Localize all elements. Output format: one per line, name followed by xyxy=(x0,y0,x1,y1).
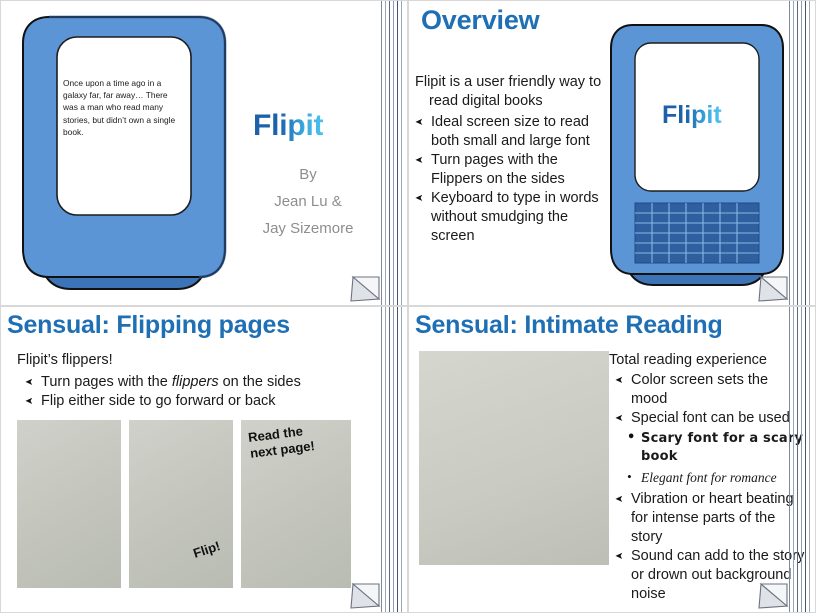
page-fold-corner xyxy=(757,580,791,610)
flipping-bullet-list: Turn pages with the flippers on the side… xyxy=(25,373,357,411)
page-fold-corner xyxy=(757,273,791,303)
photo-flip-action: Flip! xyxy=(129,420,233,588)
edge-stripes xyxy=(785,1,811,305)
byline: By Jean Lu & Jay Sizemore xyxy=(223,161,393,242)
stripe-background xyxy=(383,1,407,305)
slide-deck: Once upon a time ago in a galaxy far, fa… xyxy=(0,0,816,613)
slide-title-overview: Overview xyxy=(421,5,539,36)
stripe-background xyxy=(383,307,407,612)
bullet-item: Ideal screen size to read both small and… xyxy=(415,113,605,151)
flipit-device-illustration xyxy=(19,9,229,294)
bullet-item: Vibration or heart beating for intense p… xyxy=(615,490,807,547)
intimate-bullet-list: Color screen sets the mood Special font … xyxy=(615,371,807,428)
overview-lead: Flipit is a user friendly way to read di… xyxy=(415,73,605,111)
bullet-text-emphasis: flippers xyxy=(172,374,219,390)
sub-bullet-scary-font: Scary font for a scary book xyxy=(627,430,807,466)
bullet-item: Color screen sets the mood xyxy=(615,371,807,409)
slide-intimate-reading[interactable]: Sensual: Intimate Reading xyxy=(408,306,816,613)
byline-author-1: Jean Lu & xyxy=(223,188,393,215)
slide-title-intimate-reading: Sensual: Intimate Reading xyxy=(415,311,723,340)
intimate-sub-bullet-list: Scary font for a scary book Elegant font… xyxy=(627,430,807,487)
edge-stripes xyxy=(377,307,403,612)
photo-flipper-hold xyxy=(17,420,121,588)
bullet-item: Keyboard to type in words without smudgi… xyxy=(415,189,605,246)
flipping-body: Flipit’s flippers! Turn pages with the f… xyxy=(17,351,357,411)
flipit-device-illustration xyxy=(607,19,787,294)
photo-next-page: Read the next page! xyxy=(241,420,351,588)
photo-intimate-reading: BZZZZ xyxy=(419,351,609,565)
flipping-lead: Flipit’s flippers! xyxy=(17,351,357,370)
intimate-body: Total reading experience Color screen se… xyxy=(609,351,807,604)
bullet-text-after: on the sides xyxy=(219,374,301,390)
stripe-background xyxy=(791,1,815,305)
intimate-lead: Total reading experience xyxy=(609,351,807,370)
device-screen-text: Once upon a time ago in a galaxy far, fa… xyxy=(63,77,177,138)
page-fold-corner xyxy=(349,580,383,610)
edge-stripes xyxy=(377,1,403,305)
overview-body: Flipit is a user friendly way to read di… xyxy=(415,73,605,246)
bullet-item: Turn pages with the Flippers on the side… xyxy=(415,151,605,189)
slide-title-flipping-pages: Sensual: Flipping pages xyxy=(7,311,290,340)
bullet-text-before: Turn pages with the xyxy=(41,374,172,390)
overview-bullet-list: Ideal screen size to read both small and… xyxy=(415,113,605,246)
sub-bullet-elegant-font: Elegant font for romance xyxy=(627,469,807,487)
bullet-item: Special font can be used xyxy=(615,409,807,428)
slide-overview[interactable]: Overview Flipit is a user friendly way t… xyxy=(408,0,816,306)
bullet-item: Flip either side to go forward or back xyxy=(25,392,357,411)
byline-by: By xyxy=(223,161,393,188)
brand-logo: Flipit xyxy=(253,109,323,143)
bullet-item: Turn pages with the flippers on the side… xyxy=(25,373,357,392)
page-fold-corner xyxy=(349,273,383,303)
device-screen-logo: Flipit xyxy=(662,101,722,130)
byline-author-2: Jay Sizemore xyxy=(223,215,393,242)
slide-title[interactable]: Once upon a time ago in a galaxy far, fa… xyxy=(0,0,408,306)
slide-flipping-pages[interactable]: Sensual: Flipping pages Flipit’s flipper… xyxy=(0,306,408,613)
